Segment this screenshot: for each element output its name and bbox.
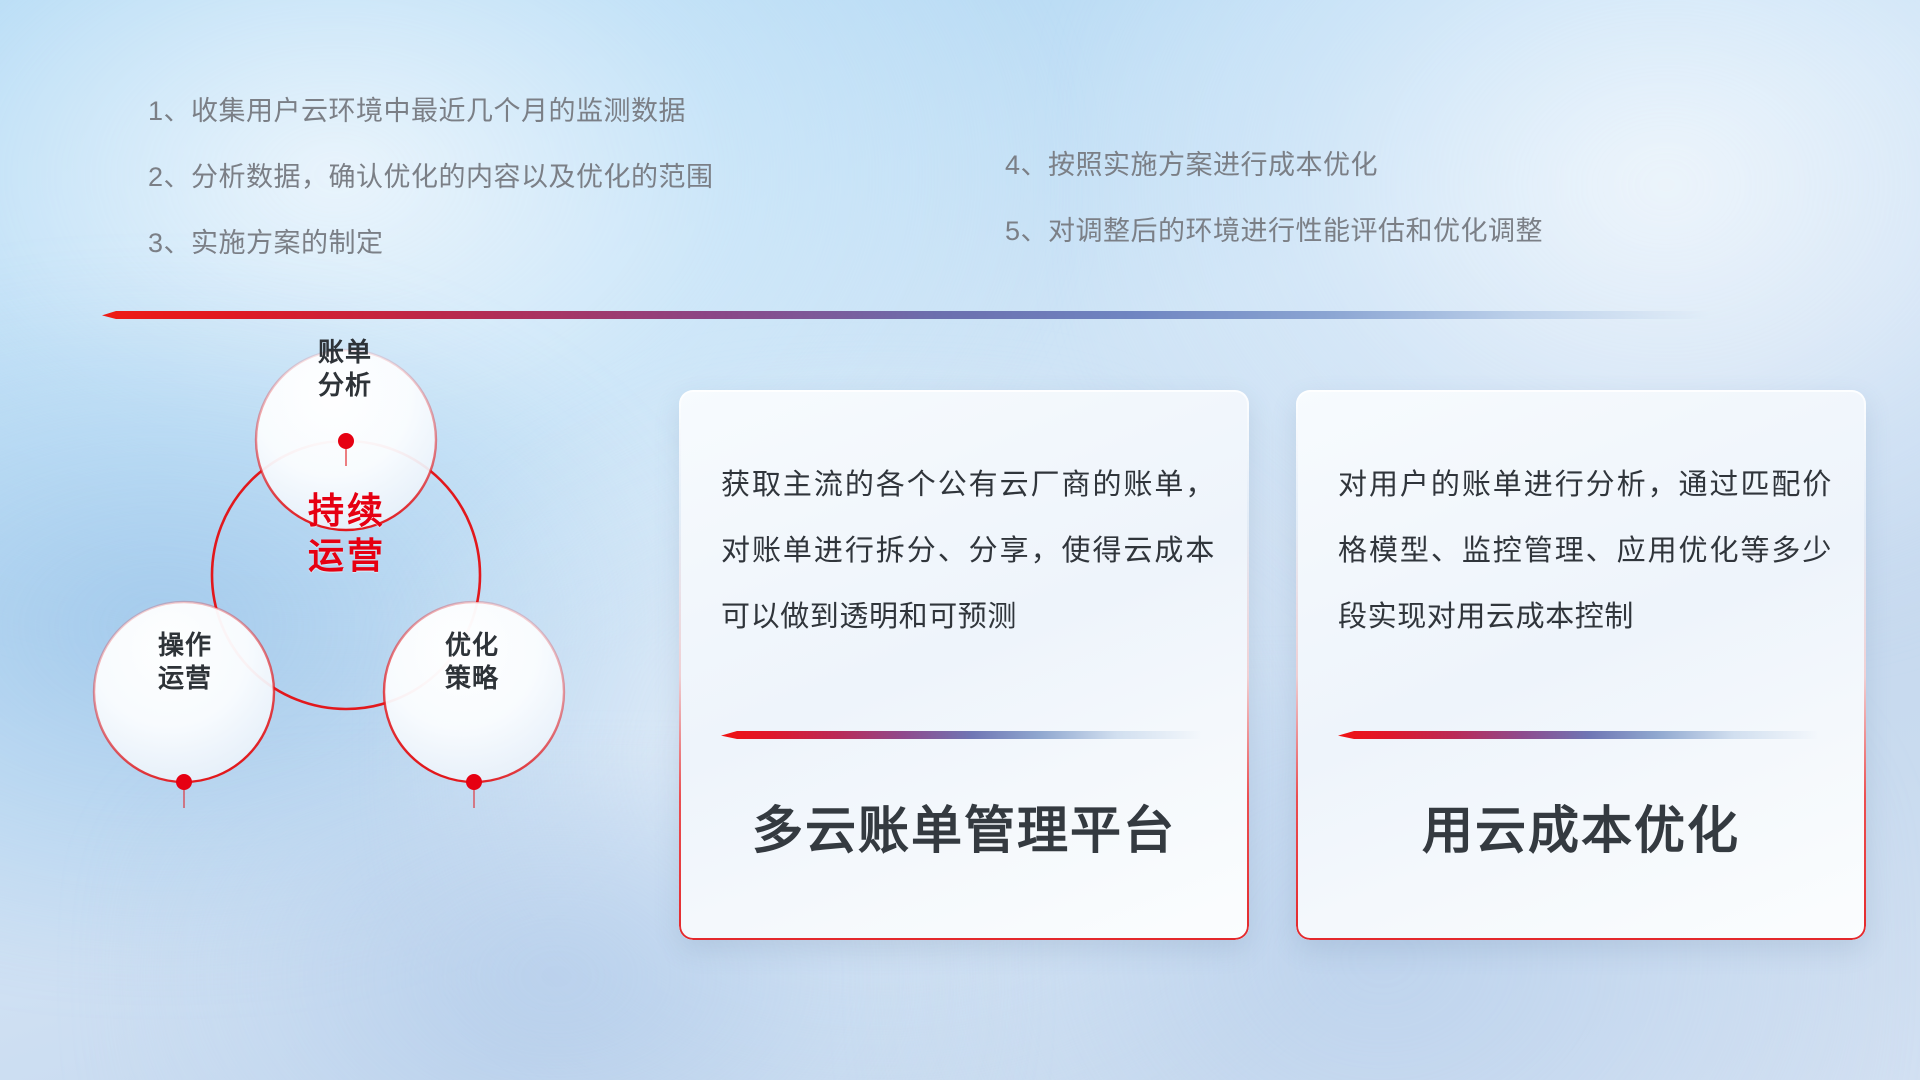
venn-svg [92,340,652,860]
venn-node-label-bottom-right: 优化 策略 [397,629,547,694]
info-card-multi-cloud-billing[interactable]: 获取主流的各个公有云厂商的账单，对账单进行拆分、分享，使得云成本可以做到透明和可… [679,390,1249,940]
card-body-text: 获取主流的各个公有云厂商的账单，对账单进行拆分、分享，使得云成本可以做到透明和可… [721,452,1215,650]
section-divider [102,311,1710,319]
card-divider [1338,731,1820,739]
card-title: 多云账单管理平台 [679,789,1249,863]
venn-node-label-top: 账单 分析 [270,336,420,401]
venn-diagram: 账单 分析 操作 运营 优化 策略 持续 运营 [92,340,652,860]
numbered-list-left: 1、收集用户云环境中最近几个月的监测数据 2、分析数据，确认优化的内容以及优化的… [148,98,714,257]
list-item: 4、按照实施方案进行成本优化 [1005,152,1543,179]
card-divider-gradient-bar [721,731,1203,739]
numbered-list-right: 4、按照实施方案进行成本优化 5、对调整后的环境进行性能评估和优化调整 [1005,152,1543,245]
venn-node-label-bottom-left: 操作 运营 [110,629,260,694]
list-item: 2、分析数据，确认优化的内容以及优化的范围 [148,164,714,191]
card-divider [721,731,1203,739]
venn-dot-bottom-right [466,774,482,790]
card-divider-gradient-bar [1338,731,1820,739]
venn-dot-top [338,433,354,449]
card-body-text: 对用户的账单进行分析，通过匹配价格模型、监控管理、应用优化等多少段实现对用云成本… [1338,452,1832,650]
list-item: 5、对调整后的环境进行性能评估和优化调整 [1005,218,1543,245]
list-item: 1、收集用户云环境中最近几个月的监测数据 [148,98,714,125]
card-title: 用云成本优化 [1296,789,1866,863]
venn-dot-bottom-left [176,774,192,790]
info-card-cloud-cost-optimization[interactable]: 对用户的账单进行分析，通过匹配价格模型、监控管理、应用优化等多少段实现对用云成本… [1296,390,1866,940]
section-divider-gradient-bar [102,311,1710,319]
venn-center-label: 持续 运营 [252,488,442,579]
list-item: 3、实施方案的制定 [148,230,714,257]
